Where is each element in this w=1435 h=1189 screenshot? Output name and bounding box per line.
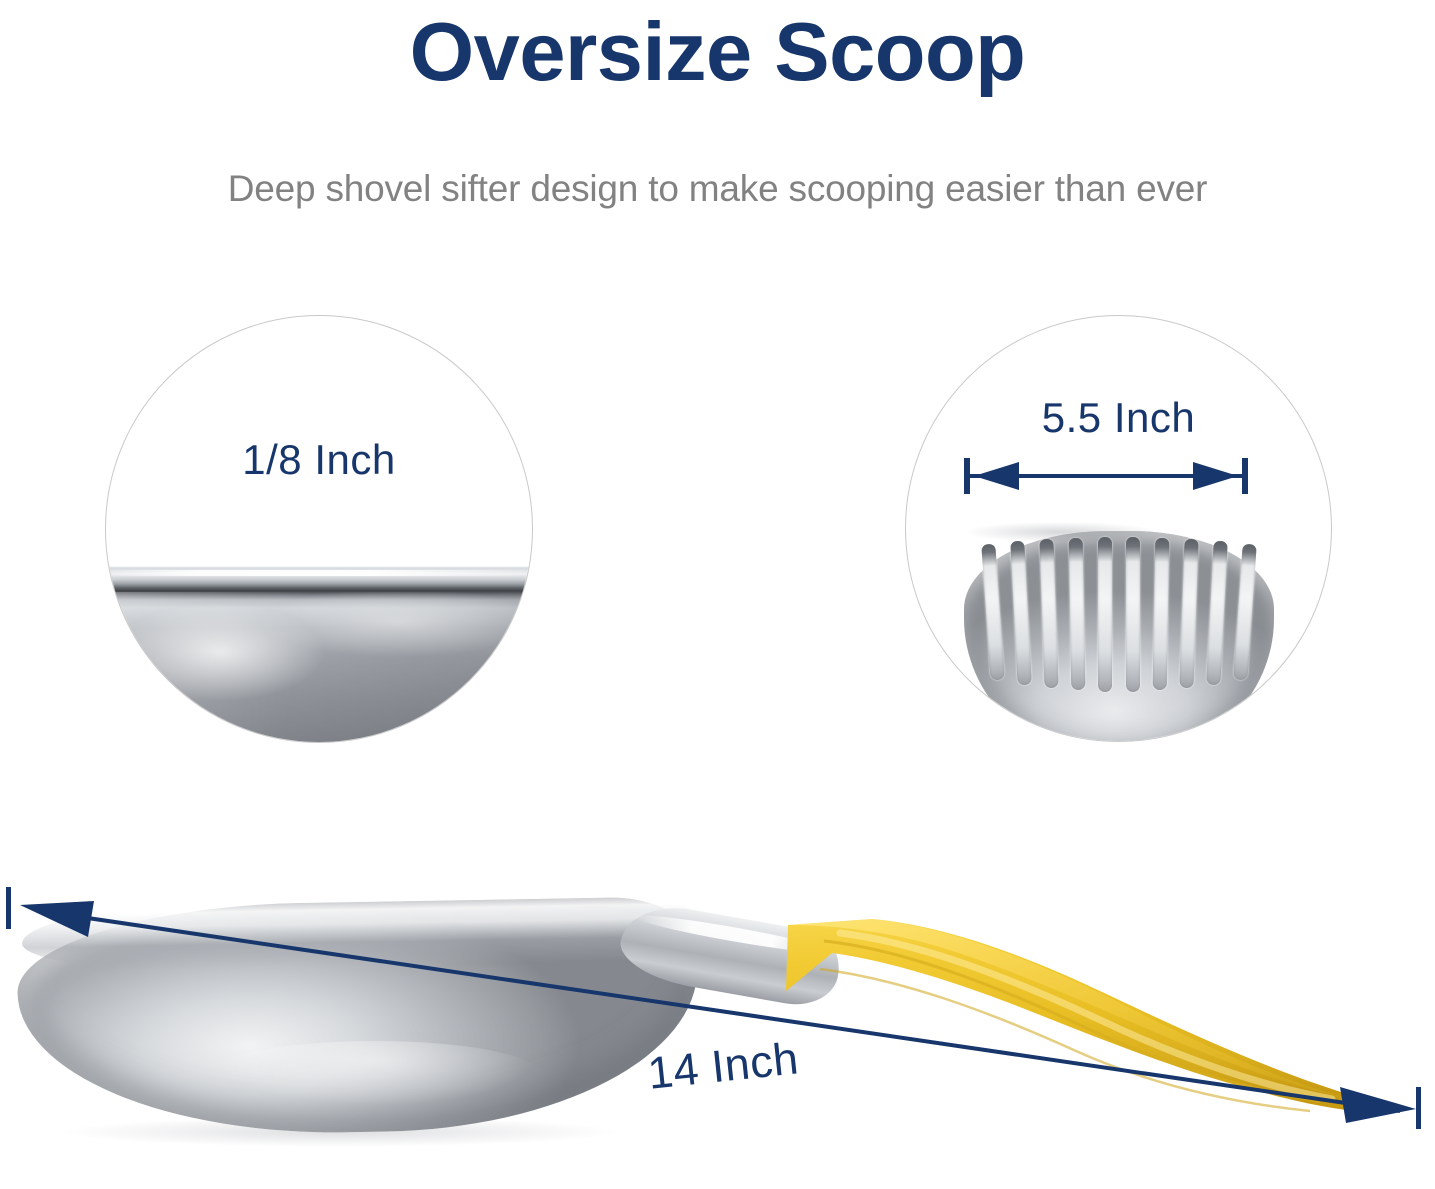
sifter-slot: [1153, 538, 1170, 690]
sifter-slot: [1069, 538, 1086, 690]
sifter-head-image: [964, 531, 1274, 742]
sifter-slot: [1179, 539, 1198, 688]
thickness-label: 1/8 Inch: [106, 436, 532, 484]
steel-rim-closeup-image: [105, 558, 533, 743]
length-dimension-arrow-icon: [0, 855, 1435, 1189]
detail-circle-thickness: 1/8 Inch: [105, 315, 533, 743]
sifter-slot: [1010, 541, 1032, 686]
width-dimension-arrow-icon: [961, 454, 1251, 498]
width-label: 5.5 Inch: [906, 394, 1331, 442]
page-title: Oversize Scoop: [0, 8, 1435, 95]
sifter-slot: [1126, 537, 1140, 692]
infographic-page: Oversize Scoop Deep shovel sifter design…: [0, 0, 1435, 1189]
sifter-slot: [1039, 539, 1058, 688]
sifter-slot: [1206, 541, 1228, 686]
sifter-slot-group: [986, 537, 1252, 692]
product-photo: [0, 855, 1435, 1189]
detail-circle-width: 5.5 Inch: [905, 315, 1332, 742]
sifter-drop-shadow: [966, 522, 1156, 542]
sifter-slot: [1098, 537, 1112, 692]
page-subtitle: Deep shovel sifter design to make scoopi…: [0, 168, 1435, 210]
